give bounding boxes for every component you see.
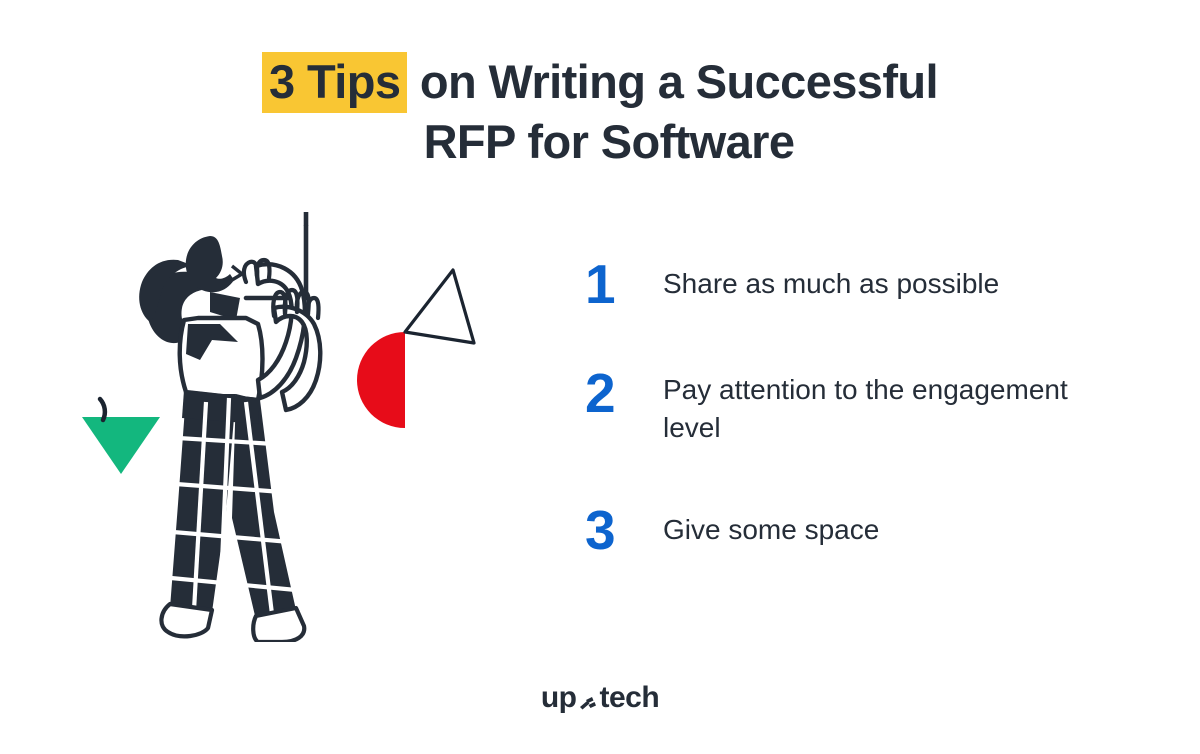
list-item: 2 Pay attention to the engagement level	[585, 367, 1115, 447]
tip-number: 3	[585, 504, 663, 556]
tip-text: Give some space	[663, 504, 879, 549]
tip-text: Share as much as possible	[663, 258, 999, 303]
tip-number: 1	[585, 258, 663, 310]
title-line-2: RFP for Software	[0, 112, 1200, 172]
pie-chart-icon	[357, 270, 474, 428]
green-triangle-icon	[82, 399, 160, 474]
title-line-1: 3 Tips on Writing a Successful	[0, 52, 1200, 112]
logo-text-tech: tech	[599, 681, 659, 715]
tip-number: 2	[585, 367, 663, 419]
page-title: 3 Tips on Writing a Successful RFP for S…	[0, 52, 1200, 172]
brand-logo: up tech	[0, 681, 1200, 715]
list-item: 3 Give some space	[585, 504, 1115, 556]
woman-figure	[139, 212, 320, 642]
shoes	[161, 604, 304, 642]
infographic-poster: 3 Tips on Writing a Successful RFP for S…	[0, 0, 1200, 754]
logo-mark-icon	[577, 689, 598, 710]
tip-text: Pay attention to the engagement level	[663, 367, 1083, 447]
illustration	[60, 212, 500, 642]
title-line-1-rest: on Writing a Successful	[407, 55, 938, 108]
list-item: 1 Share as much as possible	[585, 258, 1115, 310]
logo-text-up: up	[541, 681, 577, 715]
title-highlight: 3 Tips	[262, 52, 407, 113]
tips-list: 1 Share as much as possible 2 Pay attent…	[585, 258, 1115, 556]
